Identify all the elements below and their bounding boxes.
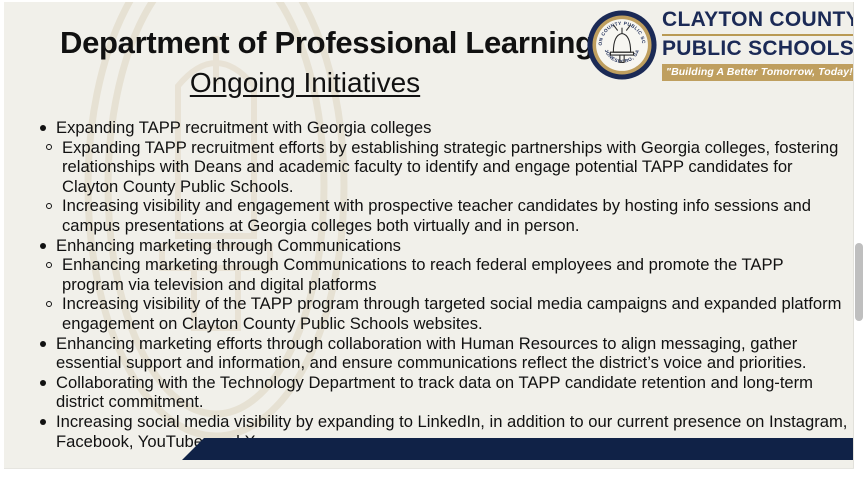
sub-bullet-text: Increasing visibility and engagement wit… — [62, 196, 848, 235]
bullet-text: Collaborating with the Technology Depart… — [56, 373, 848, 412]
bullet-disc-icon — [40, 419, 46, 425]
bullet-disc-icon — [40, 125, 46, 131]
bullet-item: Collaborating with the Technology Depart… — [30, 373, 848, 412]
sub-bullet-list: Enhancing marketing through Communicatio… — [30, 255, 848, 333]
bullet-circle-icon — [46, 262, 52, 268]
bullet-text: Expanding TAPP recruitment with Georgia … — [56, 118, 848, 138]
bullet-circle-icon — [46, 203, 52, 209]
bullet-text: Enhancing marketing efforts through coll… — [56, 334, 848, 373]
bullet-circle-icon — [46, 144, 52, 150]
vertical-scrollbar[interactable] — [854, 0, 864, 487]
bullet-disc-icon — [40, 341, 46, 347]
title-block: Department of Professional Learning Ongo… — [60, 26, 550, 98]
bullet-disc-icon — [40, 243, 46, 249]
footer-navy-band — [182, 438, 860, 460]
bullet-item: Enhancing marketing efforts through coll… — [30, 334, 848, 373]
slide-header: Department of Professional Learning Ongo… — [4, 2, 860, 122]
slide-canvas: Department of Professional Learning Ongo… — [4, 2, 860, 468]
bullet-item: Enhancing marketing through Communicatio… — [30, 236, 848, 256]
bullet-circle-icon — [46, 301, 52, 307]
page-title: Department of Professional Learning — [60, 26, 550, 61]
footer-band-wrap — [4, 432, 860, 468]
bullet-item: Expanding TAPP recruitment with Georgia … — [30, 118, 848, 138]
sub-bullet-list: Expanding TAPP recruitment efforts by es… — [30, 138, 848, 236]
sub-bullet-item: Increasing visibility of the TAPP progra… — [30, 294, 848, 333]
slide-root: Department of Professional Learning Ongo… — [0, 0, 864, 487]
logo-line-1: CLAYTON COUNTY — [662, 9, 860, 32]
logo-wordmark: CLAYTON COUNTY PUBLIC SCHOOLS "Building … — [662, 9, 860, 80]
page-subtitle: Ongoing Initiatives — [60, 67, 550, 98]
sub-bullet-text: Expanding TAPP recruitment efforts by es… — [62, 138, 848, 197]
logo-divider — [662, 34, 860, 36]
logo-line-2: PUBLIC SCHOOLS — [662, 38, 860, 61]
district-seal-icon: CLAYTON COUNTY PUBLIC SCHOOLS JONESBORO,… — [586, 9, 658, 81]
sub-bullet-text: Increasing visibility of the TAPP progra… — [62, 294, 848, 333]
sub-bullet-item: Increasing visibility and engagement wit… — [30, 196, 848, 235]
bullet-disc-icon — [40, 380, 46, 386]
sub-bullet-item: Expanding TAPP recruitment efforts by es… — [30, 138, 848, 197]
bullet-list: Expanding TAPP recruitment with Georgia … — [30, 118, 848, 451]
sub-bullet-text: Enhancing marketing through Communicatio… — [62, 255, 848, 294]
district-logo: CLAYTON COUNTY PUBLIC SCHOOLS JONESBORO,… — [586, 6, 848, 84]
bullet-text: Enhancing marketing through Communicatio… — [56, 236, 848, 256]
slide-bottom-edge — [4, 468, 860, 469]
sub-bullet-item: Enhancing marketing through Communicatio… — [30, 255, 848, 294]
logo-tagline: "Building A Better Tomorrow, Today!" — [662, 64, 860, 81]
scrollbar-thumb[interactable] — [855, 243, 863, 321]
content-body: Expanding TAPP recruitment with Georgia … — [30, 118, 848, 451]
